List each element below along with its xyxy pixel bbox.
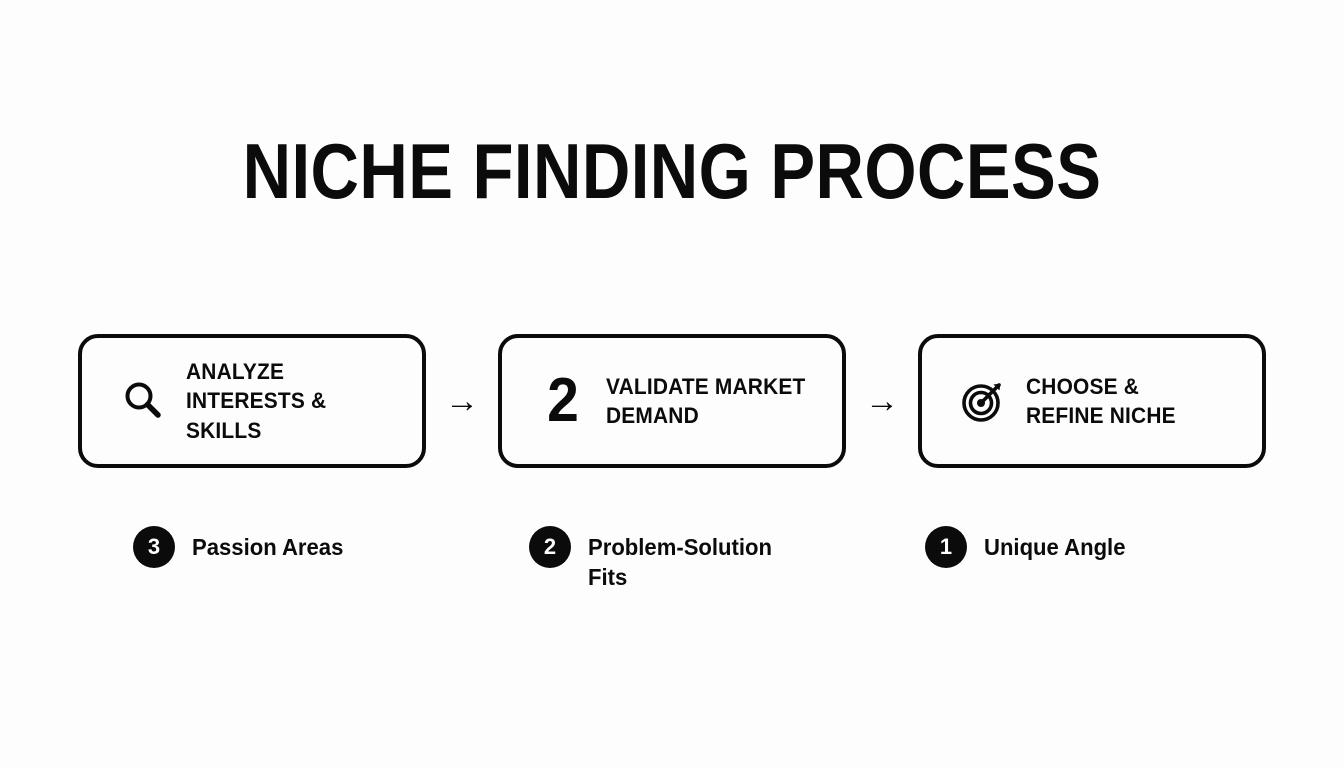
legend-item-problem-solution-fits[interactable]: 2 Problem-Solution Fits: [474, 526, 870, 593]
step-card-analyze[interactable]: ANALYZE INTERESTS & SKILLS: [78, 334, 426, 468]
step-card-choose[interactable]: CHOOSE & REFINE NICHE: [918, 334, 1266, 468]
process-steps-row: ANALYZE INTERESTS & SKILLS → 2 VALIDATE …: [78, 334, 1266, 468]
arrow-icon-2: →: [858, 384, 906, 418]
legend-badge-3: 3: [133, 526, 175, 568]
arrow-icon-1: →: [438, 384, 486, 418]
step-label-validate: VALIDATE MARKET DEMAND: [606, 372, 805, 430]
step-card-validate[interactable]: 2 VALIDATE MARKET DEMAND: [498, 334, 846, 468]
step-number-2: 2: [542, 370, 584, 432]
legend-label-problem-solution-fits: Problem-Solution Fits: [588, 526, 794, 593]
legend-badge-2: 2: [529, 526, 571, 568]
legend-badge-1: 1: [925, 526, 967, 568]
legend-item-passion-areas[interactable]: 3 Passion Areas: [78, 526, 474, 593]
legend-label-passion-areas: Passion Areas: [192, 526, 343, 563]
target-arrow-icon: [960, 378, 1006, 424]
step-label-analyze: ANALYZE INTERESTS & SKILLS: [186, 357, 395, 444]
magnifier-icon: [120, 378, 166, 424]
legend-item-unique-angle[interactable]: 1 Unique Angle: [870, 526, 1266, 593]
step-label-choose: CHOOSE & REFINE NICHE: [1026, 372, 1176, 430]
legend-row: 3 Passion Areas 2 Problem-Solution Fits …: [78, 526, 1266, 593]
page-title: NICHE FINDING PROCESS: [94, 132, 1250, 210]
legend-label-unique-angle: Unique Angle: [984, 526, 1125, 563]
